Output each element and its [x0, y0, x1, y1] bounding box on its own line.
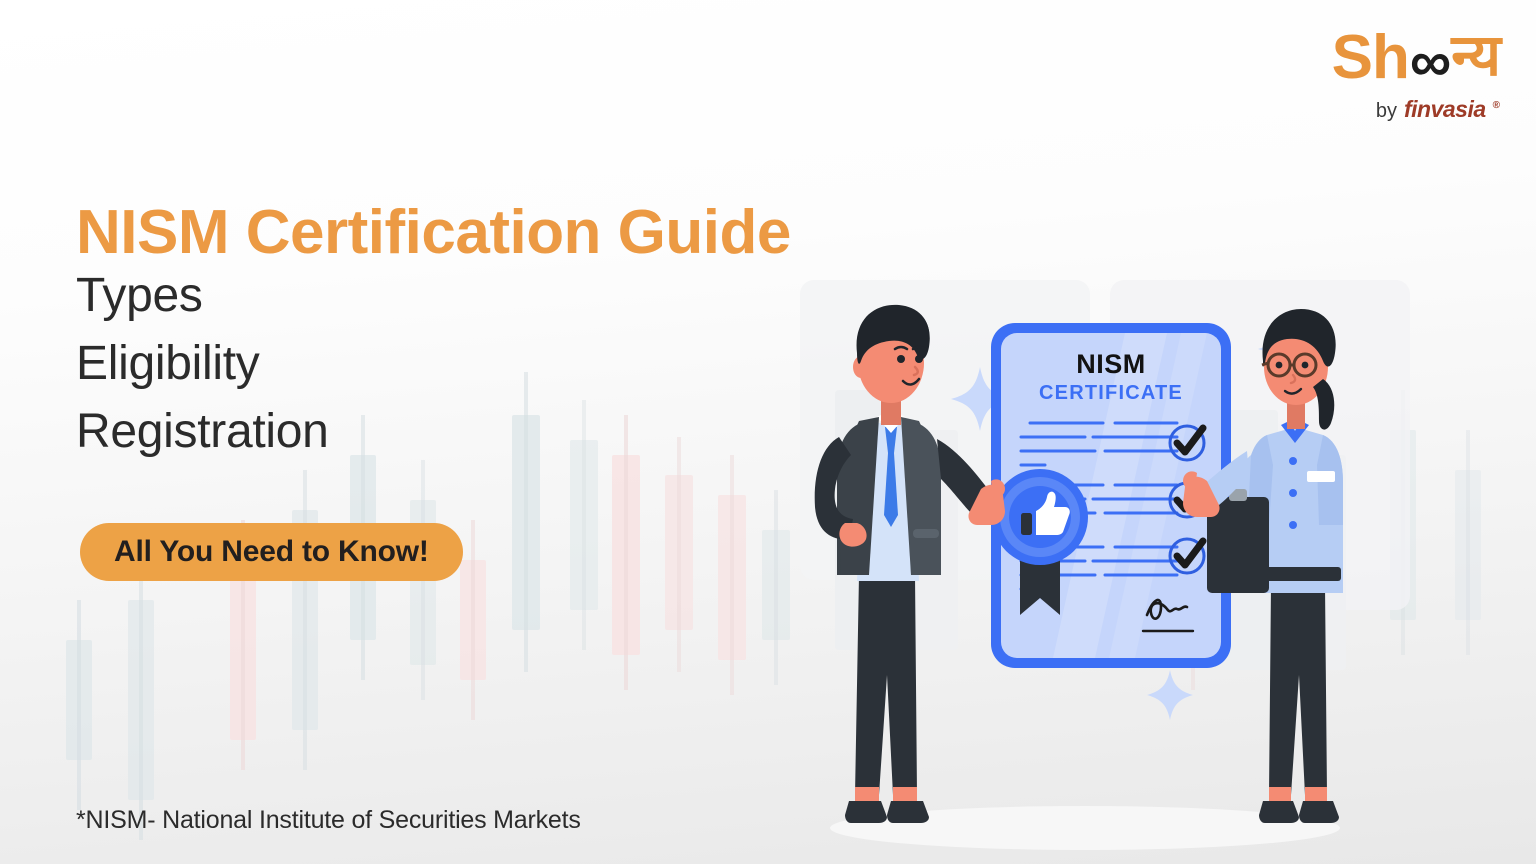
logo-company-name: finvasia — [1404, 96, 1486, 123]
certificate-title: NISM — [1076, 349, 1146, 379]
list-item: Registration — [76, 398, 329, 466]
topic-list: Types Eligibility Registration — [76, 262, 329, 466]
page-title: NISM Certification Guide — [76, 200, 791, 265]
infinity-icon: ∞ — [1410, 33, 1450, 91]
logo-word-suffix: न्य — [1451, 27, 1500, 85]
list-item: Types — [76, 262, 329, 330]
list-item: Eligibility — [76, 330, 329, 398]
nism-certification-banner: Sh∞न्य by finvasia ® NISM Certification … — [0, 0, 1536, 864]
logo-wordmark: Sh∞न्य — [1250, 22, 1500, 94]
logo-word-prefix: Sh — [1332, 27, 1409, 89]
certification-illustration: NISM CERTIFICATE — [795, 275, 1365, 860]
footnote-text: *NISM- National Institute of Securities … — [76, 806, 581, 835]
logo-tagline: by finvasia ® — [1250, 96, 1500, 123]
cta-button[interactable]: All You Need to Know! — [80, 523, 463, 581]
brand-logo[interactable]: Sh∞न्य by finvasia ® — [1250, 22, 1500, 123]
registered-trademark-icon: ® — [1493, 100, 1500, 111]
logo-by-text: by — [1376, 100, 1397, 123]
certificate-subtitle: CERTIFICATE — [1039, 382, 1183, 404]
sparkle-icon — [1147, 670, 1193, 720]
